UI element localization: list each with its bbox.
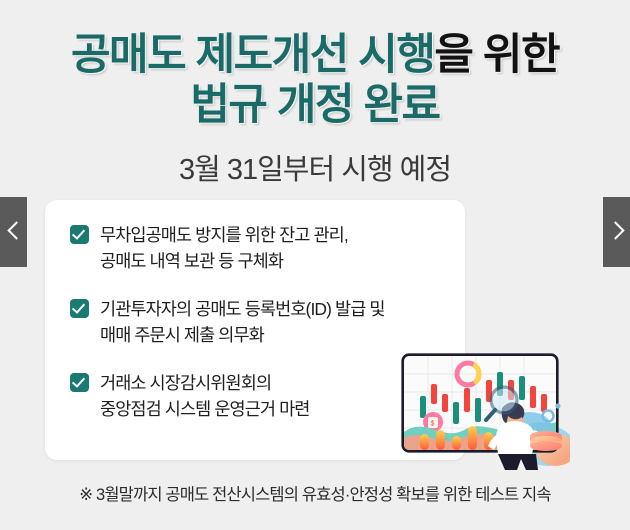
title-line-2: 법규 개정 완료: [0, 80, 630, 130]
list-item-line-2: 공매도 내역 보관 등 구체화: [100, 248, 348, 274]
list-item-text: 거래소 시장감시위원회의 중앙점검 시스템 운영근거 마련: [100, 370, 310, 422]
list-item-line-1: 무차입공매도 방지를 위한 잔고 관리,: [100, 222, 348, 248]
svg-text:$: $: [431, 421, 435, 428]
list-item-text: 기관투자자의 공매도 등록번호(ID) 발급 및 매매 주문시 제출 의무화: [100, 296, 385, 348]
carousel-slide: 공매도 제도개선 시행을 위한 법규 개정 완료 3월 31일부터 시행 예정 …: [0, 0, 630, 530]
stock-chart-analysis-illustration: $: [398, 350, 570, 472]
list-item-line-1: 거래소 시장감시위원회의: [100, 370, 310, 396]
list-item: 무차입공매도 방지를 위한 잔고 관리, 공매도 내역 보관 등 구체화: [70, 222, 450, 274]
list-item-line-2: 매매 주문시 제출 의무화: [100, 322, 385, 348]
bullet-list: 무차입공매도 방지를 위한 잔고 관리, 공매도 내역 보관 등 구체화 기관투…: [70, 222, 450, 444]
list-item-text: 무차입공매도 방지를 위한 잔고 관리, 공매도 내역 보관 등 구체화: [100, 222, 348, 274]
chevron-right-icon: [606, 221, 624, 239]
chevron-left-icon: [7, 221, 25, 239]
list-item-line-2: 중앙점검 시스템 운영근거 마련: [100, 396, 310, 422]
title-line-1-plain: 을 위한: [434, 31, 559, 79]
list-item-line-1: 기관투자자의 공매도 등록번호(ID) 발급 및: [100, 296, 385, 322]
title-line-1-highlight: 공매도 제도개선 시행: [71, 31, 434, 79]
footer-note: ※ 3월말까지 공매도 전산시스템의 유효성·안정성 확보를 위한 테스트 지속: [0, 481, 630, 505]
title-line-1: 공매도 제도개선 시행을 위한: [0, 30, 630, 80]
carousel-next-button[interactable]: [603, 197, 630, 267]
checkbox-checked-icon: [70, 373, 89, 392]
page-title: 공매도 제도개선 시행을 위한 법규 개정 완료: [0, 30, 630, 130]
carousel-prev-button[interactable]: [0, 197, 27, 267]
list-item: 거래소 시장감시위원회의 중앙점검 시스템 운영근거 마련: [70, 370, 450, 422]
list-item: 기관투자자의 공매도 등록번호(ID) 발급 및 매매 주문시 제출 의무화: [70, 296, 450, 348]
checkbox-checked-icon: [70, 299, 89, 318]
checkbox-checked-icon: [70, 225, 89, 244]
subtitle: 3월 31일부터 시행 예정: [0, 146, 630, 188]
